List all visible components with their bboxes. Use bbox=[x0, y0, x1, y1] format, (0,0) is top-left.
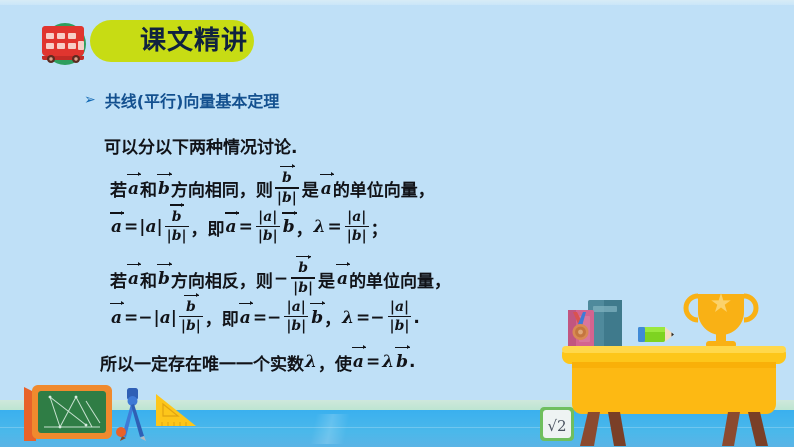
section-subtitle: ➢ 共线(平行)向量基本定理 bbox=[84, 88, 279, 112]
case2-statement: 若 a 和 b 方向相反，则 − b |b| 是 a 的单位向量， bbox=[110, 261, 524, 297]
eq1-f3-num: |a| bbox=[345, 209, 368, 226]
desk-scene bbox=[560, 282, 794, 447]
eq1-equals-3: = bbox=[327, 217, 343, 237]
eq2-lhs-vector: a bbox=[110, 308, 123, 328]
conclusion-text-2: ，使 bbox=[318, 350, 352, 375]
eq1-fraction-1: b |b| bbox=[165, 209, 189, 245]
conclusion-vector-a: a bbox=[352, 352, 365, 372]
eq2-f3-num: |a| bbox=[388, 299, 411, 316]
case1-equation: a = |a| b |b| ， 即 a = |a| |b| b ， λ = |a… bbox=[110, 210, 524, 246]
conclusion-lambda-2: λ bbox=[381, 352, 395, 372]
eq1-lambda: λ bbox=[313, 217, 327, 237]
eq2-comma-2: ， bbox=[324, 305, 341, 330]
fraction-numerator: b bbox=[296, 260, 310, 277]
triangle-ruler-icon bbox=[152, 390, 200, 437]
eq2-vector-b: b bbox=[310, 308, 324, 328]
eq1-f3-den: |b| bbox=[345, 227, 369, 244]
bus-icon bbox=[36, 18, 92, 68]
eq2-equals-3: =− bbox=[355, 308, 386, 328]
vector-a: a bbox=[127, 179, 140, 199]
trophy-icon bbox=[686, 293, 756, 348]
eq1-fraction-2: |a| |b| bbox=[256, 209, 280, 245]
eq2-abs-a: |a| bbox=[154, 308, 177, 328]
pencil-icon bbox=[638, 327, 674, 342]
conclusion-period: . bbox=[409, 352, 415, 372]
case2-suffix: 的单位向量， bbox=[349, 267, 451, 292]
eq1-terminator: ； bbox=[371, 215, 388, 240]
case2-and: 和 bbox=[140, 267, 157, 292]
conclusion-text-1: 所以一定存在唯一一个实数 bbox=[100, 350, 304, 375]
eq2-f2-num: |a| bbox=[285, 299, 308, 316]
case1-prefix: 若 bbox=[110, 176, 127, 201]
case1-shi: 是 bbox=[301, 176, 320, 201]
eq1-f2-num: |a| bbox=[256, 209, 279, 226]
fraction-b-over-absb: b |b| bbox=[275, 170, 299, 206]
case1-mid: 方向相同，则 bbox=[171, 176, 273, 201]
page-title: 课文精讲 bbox=[90, 20, 254, 62]
chalkboard-icon bbox=[14, 381, 124, 447]
eq2-terminator: . bbox=[413, 308, 419, 328]
conclusion-line: 所以一定存在唯一一个实数 λ ，使 a = λ b . bbox=[100, 350, 524, 375]
case2-prefix: 若 bbox=[110, 267, 127, 292]
case2-equation: a =− |a| b |b| ， 即 a =− |a| |b| b ， λ =−… bbox=[110, 300, 524, 336]
eq2-fraction-1: b |b| bbox=[179, 299, 203, 335]
fraction-denominator: |b| bbox=[291, 279, 315, 296]
fraction-b-over-absb-2: b |b| bbox=[291, 260, 315, 296]
intro-line: 可以分以下两种情况讨论. bbox=[104, 133, 524, 158]
eq1-equals-2: = bbox=[238, 217, 254, 237]
eq2-lambda: λ bbox=[341, 308, 355, 328]
eq2-equals: =− bbox=[123, 308, 154, 328]
case1-statement: 若 a 和 b 方向相同，则 b |b| 是 a 的单位向量， bbox=[110, 171, 524, 207]
vector-a-2: a bbox=[336, 269, 349, 289]
eq1-fraction-3: |a| |b| bbox=[345, 209, 369, 245]
intro-text: 可以分以下两种情况讨论. bbox=[104, 133, 297, 158]
vector-b: b bbox=[157, 179, 171, 199]
eq2-ji: 即 bbox=[222, 305, 239, 330]
eq1-abs-a: |a| bbox=[139, 217, 162, 237]
eq1-vector-b: b bbox=[282, 217, 296, 237]
fraction-denominator: |b| bbox=[275, 189, 299, 206]
eq2-f2-den: |b| bbox=[284, 317, 308, 334]
top-highlight-strip bbox=[0, 0, 794, 5]
eq1-ji: 即 bbox=[208, 215, 225, 240]
slide-canvas: 课文精讲 ➢ 共线(平行)向量基本定理 可以分以下两种情况讨论. 若 a 和 b… bbox=[0, 0, 794, 447]
case2-shi: 是 bbox=[317, 267, 336, 292]
conclusion-lambda: λ bbox=[304, 352, 318, 372]
chevron-right-icon: ➢ bbox=[84, 93, 96, 107]
eq2-f3-den: |b| bbox=[388, 317, 412, 334]
case2-minus-sign: − bbox=[273, 269, 289, 289]
eq1-f1-num: b bbox=[170, 209, 184, 226]
books-icon bbox=[568, 300, 622, 348]
eq2-f1-num: b bbox=[184, 299, 198, 316]
eq1-equals: = bbox=[123, 217, 139, 237]
eq2-vector-a-2: a bbox=[239, 308, 252, 328]
section-gap bbox=[104, 245, 524, 261]
eq1-lhs-vector: a bbox=[110, 217, 123, 237]
case1-and: 和 bbox=[140, 176, 157, 201]
eq2-fraction-2: |a| |b| bbox=[284, 299, 308, 335]
eq2-comma-1: ， bbox=[205, 305, 222, 330]
vector-a-2: a bbox=[320, 179, 333, 199]
conclusion-vector-b: b bbox=[395, 352, 409, 372]
conclusion-equals: = bbox=[365, 352, 381, 372]
subtitle-label: 共线(平行)向量基本定理 bbox=[105, 88, 280, 112]
fraction-numerator: b bbox=[280, 170, 294, 187]
vector-b: b bbox=[157, 269, 171, 289]
eq1-vector-a-2: a bbox=[225, 217, 238, 237]
case1-suffix: 的单位向量， bbox=[333, 176, 435, 201]
eq2-f1-den: |b| bbox=[179, 317, 203, 334]
compass-icon bbox=[112, 386, 154, 447]
case2-mid: 方向相反，则 bbox=[171, 267, 273, 292]
eq2-fraction-3: |a| |b| bbox=[388, 299, 412, 335]
eq1-f1-den: |b| bbox=[165, 227, 189, 244]
eq1-f2-den: |b| bbox=[256, 227, 280, 244]
vector-a: a bbox=[127, 269, 140, 289]
eq1-comma-2: ， bbox=[296, 215, 313, 240]
eq1-comma-1: ， bbox=[191, 215, 208, 240]
lesson-body: 可以分以下两种情况讨论. 若 a 和 b 方向相同，则 b |b| 是 a 的单… bbox=[104, 133, 524, 375]
eq2-equals-2: =− bbox=[252, 308, 283, 328]
